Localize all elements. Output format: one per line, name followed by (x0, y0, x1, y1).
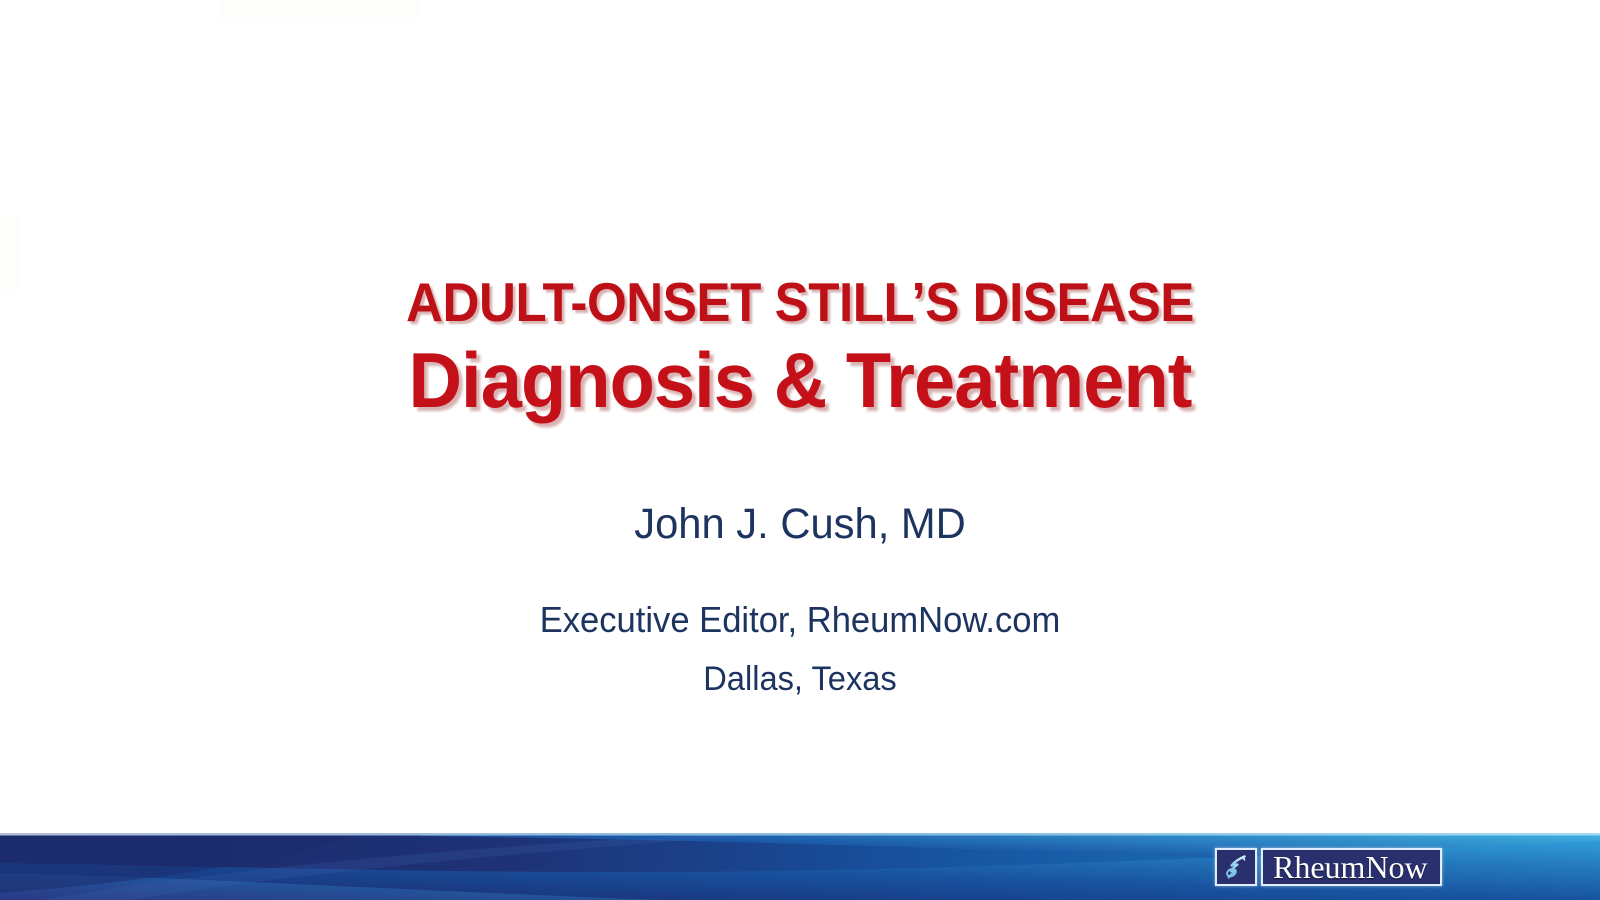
rheumnow-logo[interactable]: RheumNow (1213, 846, 1444, 888)
author-block: John J. Cush, MD Executive Editor, Rheum… (0, 498, 1600, 700)
author-name: John J. Cush, MD (24, 498, 1576, 550)
rheumnow-mark-box (1215, 848, 1257, 886)
rheumnow-wordmark: RheumNow (1273, 851, 1428, 883)
author-location: Dallas, Texas (32, 658, 1568, 700)
title-line-2: Diagnosis & Treatment (40, 338, 1560, 422)
background-artifact-top-left (218, 0, 418, 22)
rheumnow-swoosh-icon (1221, 852, 1251, 882)
slide-title-block: ADULT-ONSET STILL’S DISEASE Diagnosis & … (0, 272, 1600, 422)
author-affiliation: Executive Editor, RheumNow.com (32, 598, 1568, 642)
rheumnow-wordmark-box: RheumNow (1261, 848, 1442, 886)
title-slide: ADULT-ONSET STILL’S DISEASE Diagnosis & … (0, 0, 1600, 900)
title-line-1: ADULT-ONSET STILL’S DISEASE (56, 272, 1544, 332)
